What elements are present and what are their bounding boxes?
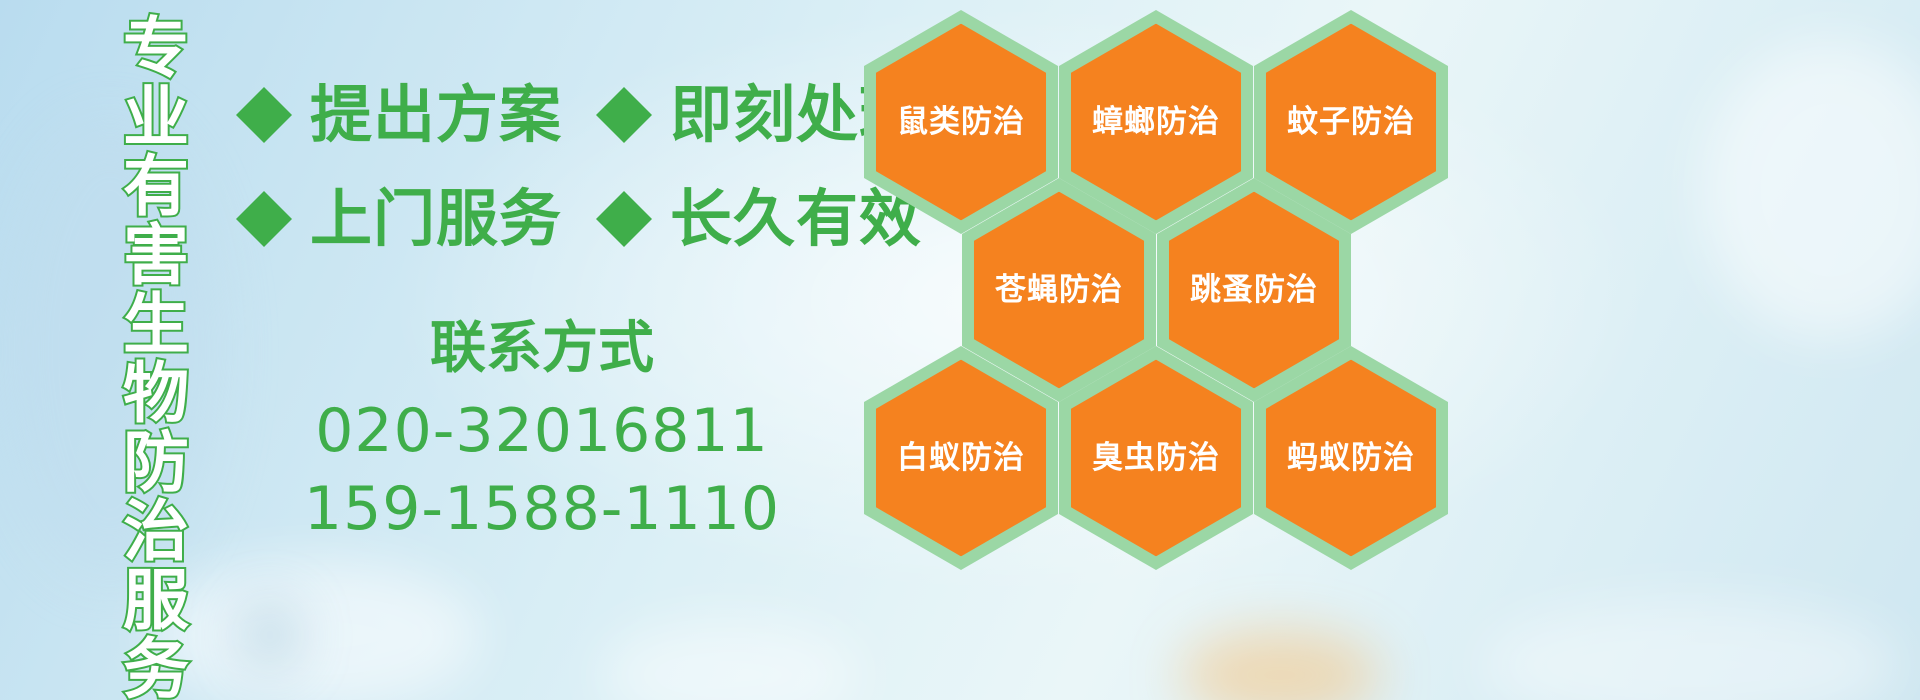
- service-label: 蚊子防治: [1287, 105, 1415, 139]
- background-blob: [1180, 630, 1380, 700]
- service-label: 白蚁防治: [897, 441, 1025, 475]
- vertical-headline-char: 有: [123, 152, 189, 221]
- vertical-headline: 专 业 有 害 生 物 防 治 服 务: [104, 14, 208, 574]
- background-blob: [150, 560, 480, 700]
- vertical-headline-char: 物: [123, 359, 189, 428]
- background-blob: [240, 600, 300, 670]
- vertical-headline-char: 专: [123, 14, 189, 83]
- service-label: 跳蚤防治: [1190, 273, 1318, 307]
- service-label: 苍蝇防治: [995, 273, 1123, 307]
- feature-label: 提出方案: [310, 84, 562, 146]
- service-hex-bedbug-control[interactable]: 臭虫防治: [1059, 346, 1253, 570]
- feature-item-propose-plan: 提出方案: [236, 84, 562, 146]
- vertical-headline-char: 治: [123, 497, 189, 566]
- vertical-headline-char: 务: [123, 635, 189, 700]
- vertical-headline-char: 害: [123, 221, 189, 290]
- contact-block: 联系方式 020-32016811 159-1588-1110: [236, 318, 848, 548]
- vertical-headline-char: 防: [123, 428, 189, 497]
- feature-item-door-to-door-service: 上门服务: [236, 188, 562, 250]
- vertical-headline-char: 业: [123, 83, 189, 152]
- contact-title: 联系方式: [236, 318, 848, 380]
- contact-phone-mobile[interactable]: 159-1588-1110: [236, 470, 848, 548]
- service-label: 蚂蚁防治: [1287, 441, 1415, 475]
- diamond-icon: [596, 163, 652, 219]
- service-honeycomb: 鼠类防治 蟑螂防治 蚊子防治 苍蝇防治 跳蚤防治 白蚁防治: [858, 0, 1458, 560]
- service-label: 臭虫防治: [1092, 441, 1220, 475]
- diamond-icon: [236, 163, 292, 219]
- background-blob: [600, 620, 860, 700]
- service-hex-ant-control[interactable]: 蚂蚁防治: [1254, 346, 1448, 570]
- service-label: 蟑螂防治: [1092, 105, 1220, 139]
- diamond-icon: [596, 59, 652, 115]
- feature-row-2: 上门服务 长久有效: [236, 188, 922, 250]
- contact-phone-landline[interactable]: 020-32016811: [236, 392, 848, 470]
- service-hex-termite-control[interactable]: 白蚁防治: [864, 346, 1058, 570]
- feature-label: 上门服务: [310, 188, 562, 250]
- background-blob: [1700, 40, 1920, 340]
- service-label: 鼠类防治: [897, 105, 1025, 139]
- background-blob: [1480, 600, 1900, 700]
- vertical-headline-char: 服: [123, 566, 189, 635]
- vertical-headline-char: 生: [123, 290, 189, 359]
- pest-control-banner: 专 业 有 害 生 物 防 治 服 务 提出方案 即刻处理 上门服务 长久有效: [0, 0, 1920, 700]
- feature-row-1: 提出方案 即刻处理: [236, 84, 922, 146]
- diamond-icon: [236, 59, 292, 115]
